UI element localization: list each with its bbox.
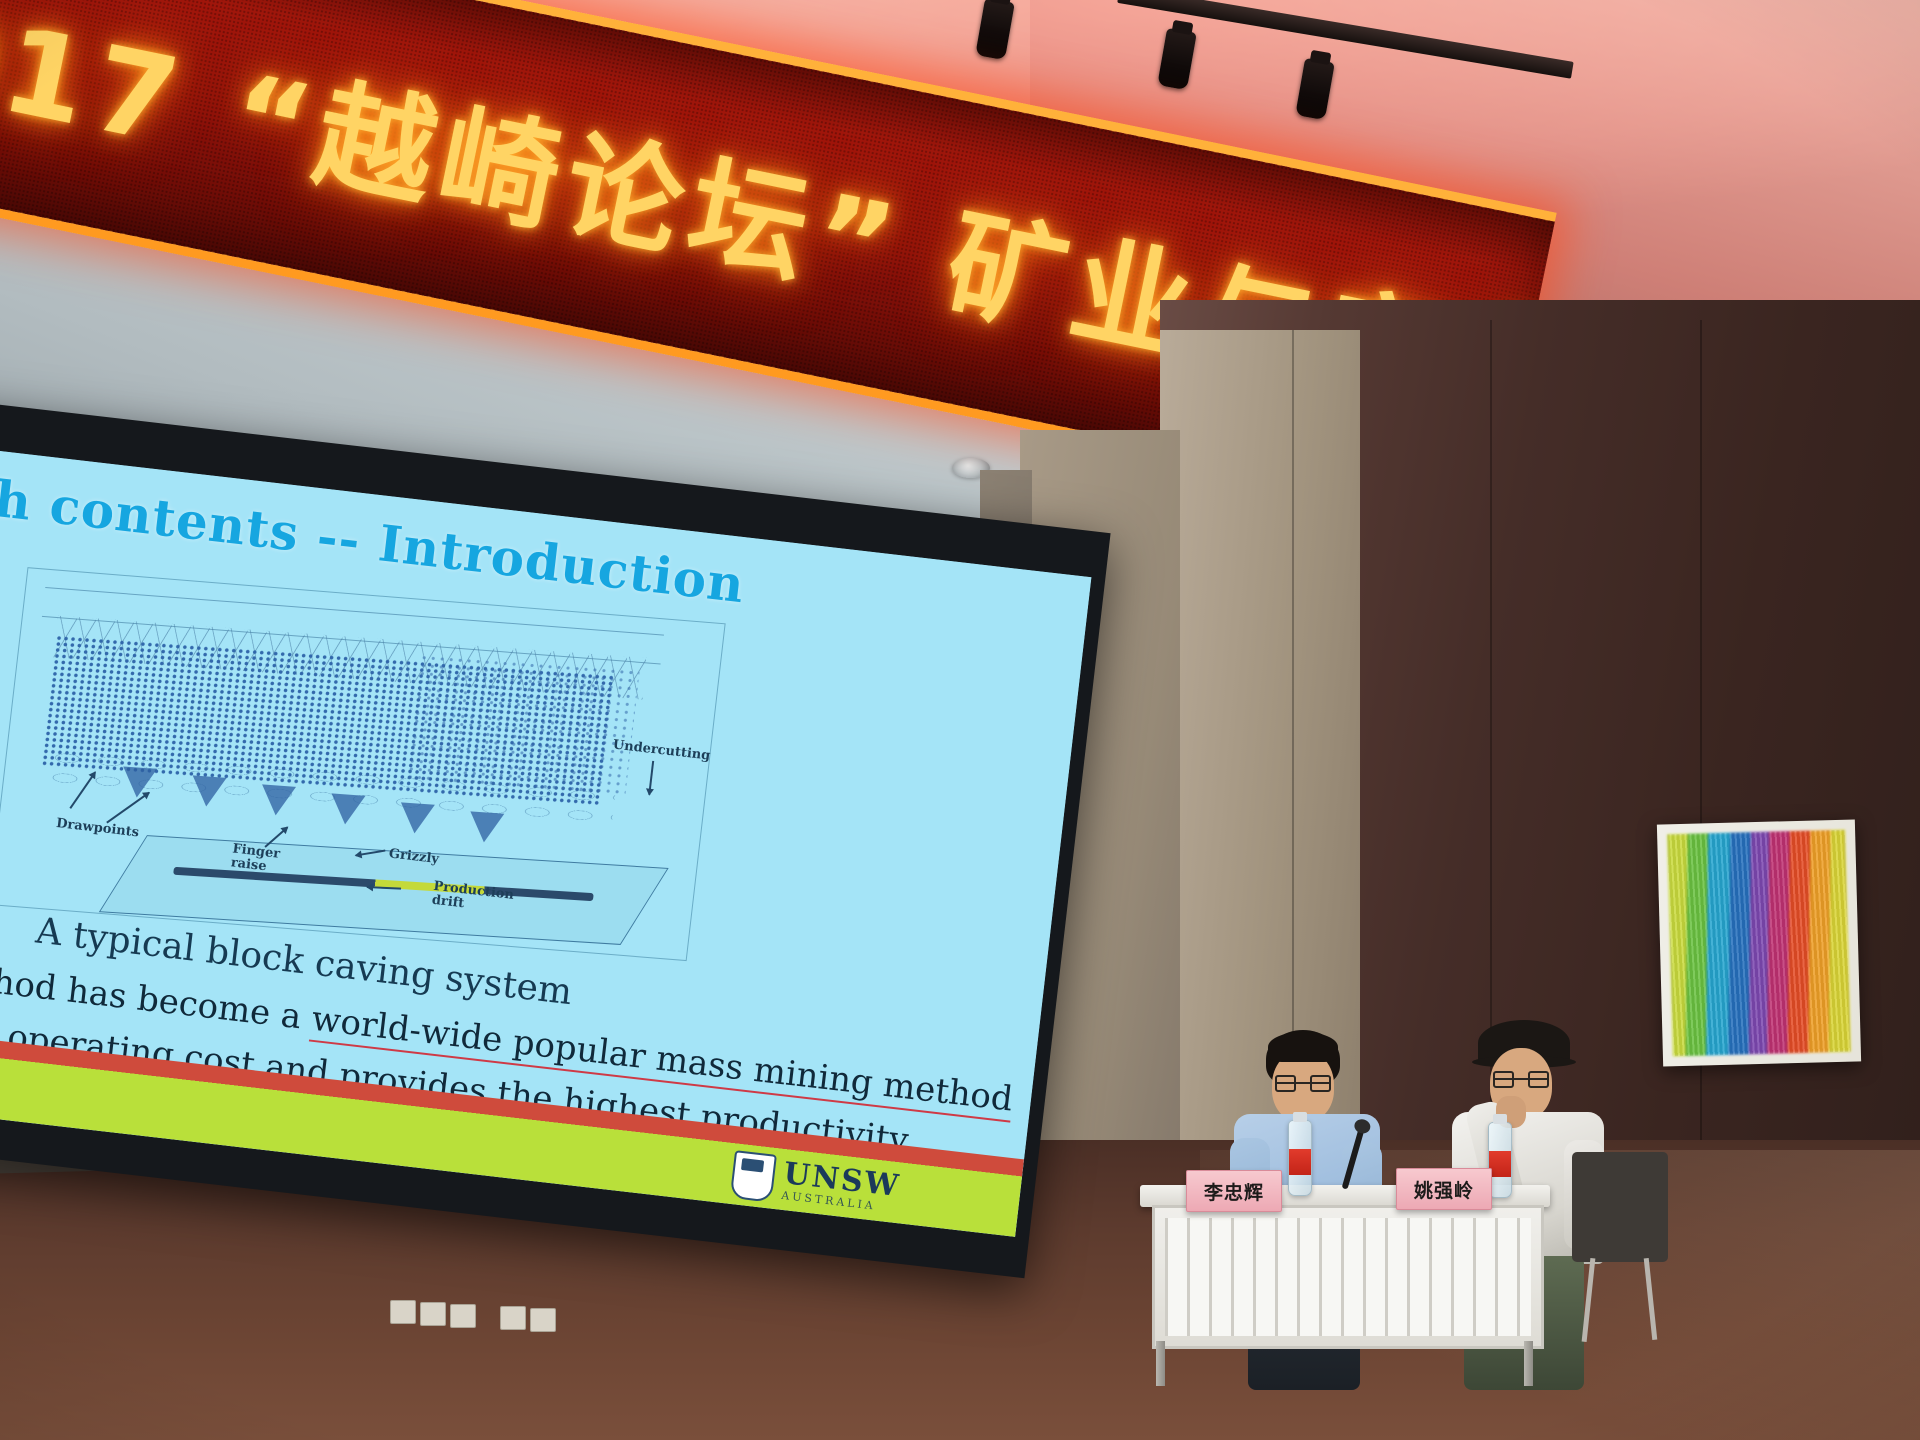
- wall-socket-icon: [530, 1308, 556, 1332]
- unsw-logo-text-block: UNSW AUSTRALIA: [781, 1159, 902, 1215]
- table-leg: [1156, 1341, 1165, 1386]
- drawpoint-cone: [328, 793, 365, 825]
- drawpoint-cone: [189, 775, 226, 807]
- nameplate-right: 姚强岭: [1396, 1168, 1492, 1210]
- panel-table: [1152, 1185, 1542, 1370]
- table-grille-panel: [1165, 1218, 1531, 1336]
- scene-photo: 2017 “越崎论坛” 矿业与安全分论坛 Research contents -…: [0, 0, 1920, 1440]
- table-leg: [1524, 1341, 1533, 1386]
- diagram-label-production-drift: Production drift: [431, 880, 490, 914]
- table-skirt: [1152, 1205, 1544, 1349]
- wall-artwork: [1657, 819, 1861, 1066]
- glasses-icon: [1275, 1082, 1331, 1084]
- bottle-label: [1489, 1151, 1511, 1177]
- drawpoint-cone: [398, 802, 435, 834]
- wall-socket-icon: [390, 1300, 416, 1324]
- drawpoint-cone: [467, 811, 504, 843]
- water-bottle-left: [1288, 1120, 1312, 1196]
- drawpoint-cone: [259, 784, 296, 816]
- diagram-label-finger-raise: Finger raise: [230, 842, 285, 875]
- block-caving-diagram: Drawpoints Finger raise Grizzly Producti…: [0, 555, 724, 973]
- bottle-cap: [1493, 1114, 1507, 1124]
- glasses-icon: [1493, 1078, 1549, 1080]
- nameplate-left: 李忠辉: [1186, 1170, 1282, 1212]
- bottle-label: [1289, 1149, 1311, 1175]
- wall-socket-icon: [500, 1306, 526, 1330]
- artwork-texture: [1667, 830, 1851, 1057]
- unsw-crest-icon: [730, 1150, 777, 1203]
- bottle-cap: [1293, 1112, 1307, 1122]
- wall-socket-icon: [420, 1302, 446, 1326]
- hair-fringe: [1268, 1032, 1338, 1062]
- wall-socket-icon: [450, 1304, 476, 1328]
- wall-seam: [1700, 320, 1702, 1220]
- chair-right: [1572, 1152, 1668, 1262]
